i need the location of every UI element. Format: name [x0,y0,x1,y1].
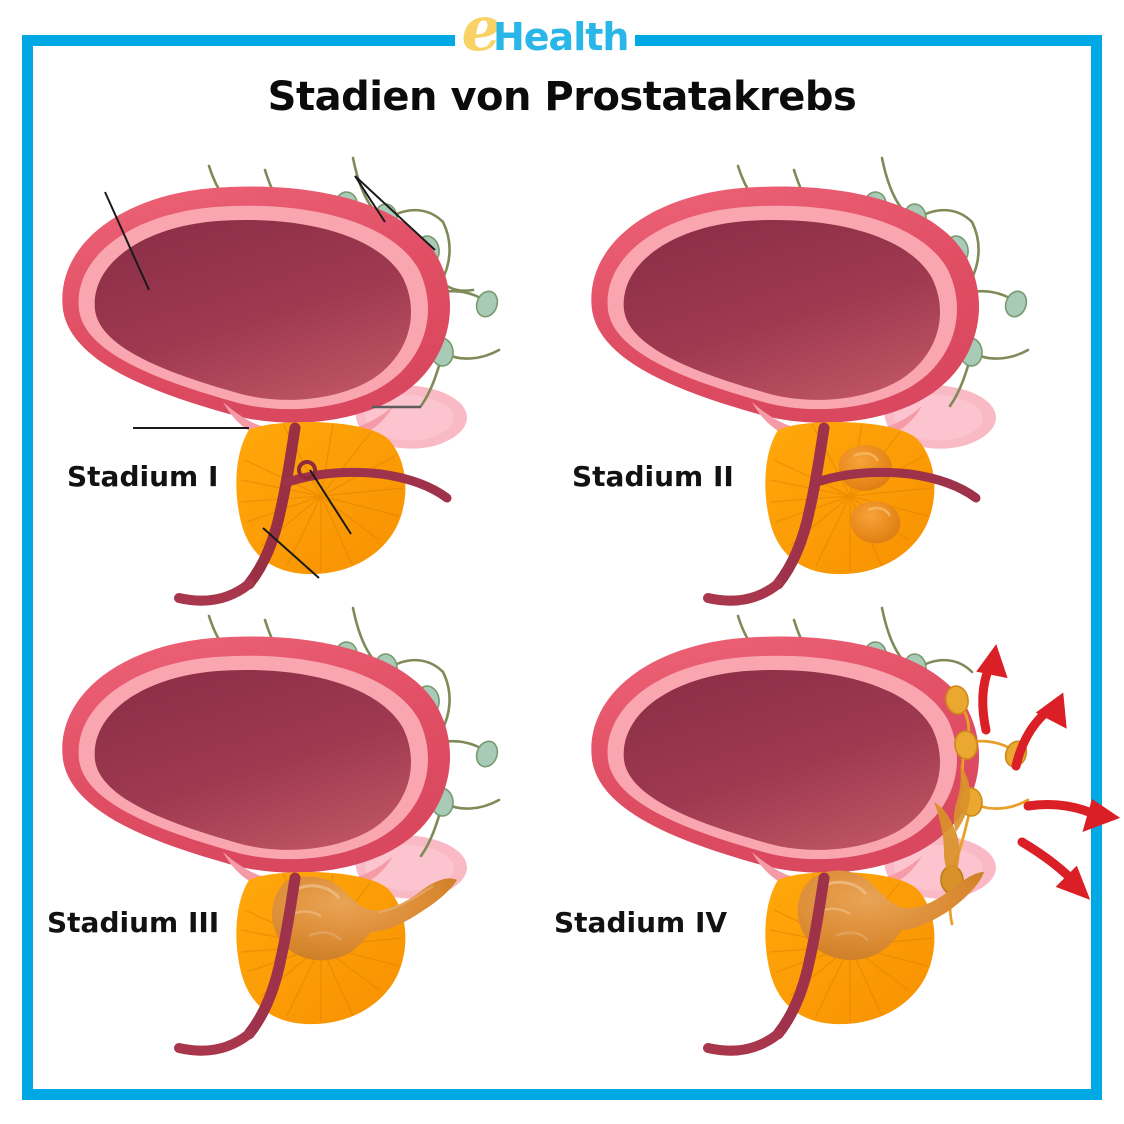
stage-panel-4: Stadium IV [562,608,1091,1086]
infographic-page: e Health Stadien von Prostatakrebs Stadi… [0,0,1124,1124]
stage-label-3: Stadium III [47,906,219,939]
frame-border-left [22,35,33,1100]
stages-grid: Stadium I [33,130,1091,1085]
stage-panel-2: Stadium II [562,130,1091,608]
stage-panel-1: Stadium I [33,130,562,608]
logo-wordmark: Health [493,18,628,56]
anatomy-illustration-stage-2 [562,130,1091,608]
prostate-gland [236,422,405,574]
anatomy-illustration-stage-4 [562,580,1091,1058]
metastasis-arrows [983,658,1102,886]
anatomy-illustration-stage-1 [33,130,562,608]
stage-label-4: Stadium IV [554,906,727,939]
stage-label-2: Stadium II [572,460,734,493]
frame-border-bottom [22,1089,1102,1100]
frame-border-right [1091,35,1102,1100]
stage-panel-3: Stadium III [33,608,562,1086]
stage-label-1: Stadium I [67,460,218,493]
anatomy-illustration-stage-3 [33,580,562,1058]
ehealth-logo[interactable]: e Health [455,2,635,64]
prostate-gland [765,422,934,574]
frame-border-top-left [22,35,472,46]
frame-border-top-right [602,35,1102,46]
page-title: Stadien von Prostatakrebs [0,74,1124,120]
